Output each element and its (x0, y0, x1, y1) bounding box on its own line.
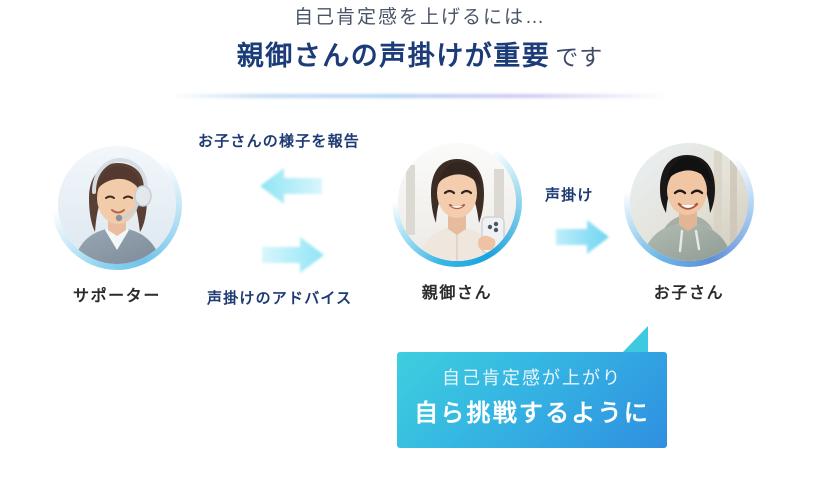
person-label-supporter: サポーター (52, 282, 182, 306)
avatar-child (630, 143, 748, 261)
header-divider (170, 94, 670, 98)
flow-label-report: お子さんの様子を報告 (198, 130, 360, 151)
arrow-left-report (258, 163, 326, 214)
headline-suffix: です (555, 44, 603, 70)
callout-line-2: 自ら挑戦するように (397, 399, 667, 429)
avatar-wrap-parent (392, 137, 522, 267)
callout-line-1: 自己肯定感が上がり (397, 367, 667, 390)
person-child: お子さん (624, 137, 754, 303)
person-label-child: お子さん (624, 279, 754, 303)
avatar-wrap-supporter (52, 140, 182, 270)
headline-emphasis: 親御さんの声掛けが重要 (237, 41, 551, 71)
headline-main: 親御さんの声掛けが重要です (0, 40, 840, 74)
header: 自己肯定感を上げるには… 親御さんの声掛けが重要です (0, 0, 840, 73)
person-parent: 親御さん (392, 137, 522, 303)
callout-result: 自己肯定感が上がり 自ら挑戦するように (397, 352, 667, 448)
avatar-parent (398, 143, 516, 261)
avatar-wrap-child (624, 137, 754, 267)
flow-label-encourage: 声掛け (545, 184, 594, 205)
person-label-parent: 親御さん (392, 279, 522, 303)
arrow-right-advice (258, 232, 326, 283)
callout-tail (622, 326, 648, 353)
avatar-supporter (58, 146, 176, 264)
infographic-canvas: 自己肯定感を上げるには… 親御さんの声掛けが重要です (0, 0, 840, 488)
arrow-right-encourage (553, 216, 611, 263)
person-supporter: サポーター (52, 140, 182, 306)
headline-subtitle: 自己肯定感を上げるには… (0, 6, 840, 31)
flow-label-advice: 声掛けのアドバイス (207, 287, 352, 308)
